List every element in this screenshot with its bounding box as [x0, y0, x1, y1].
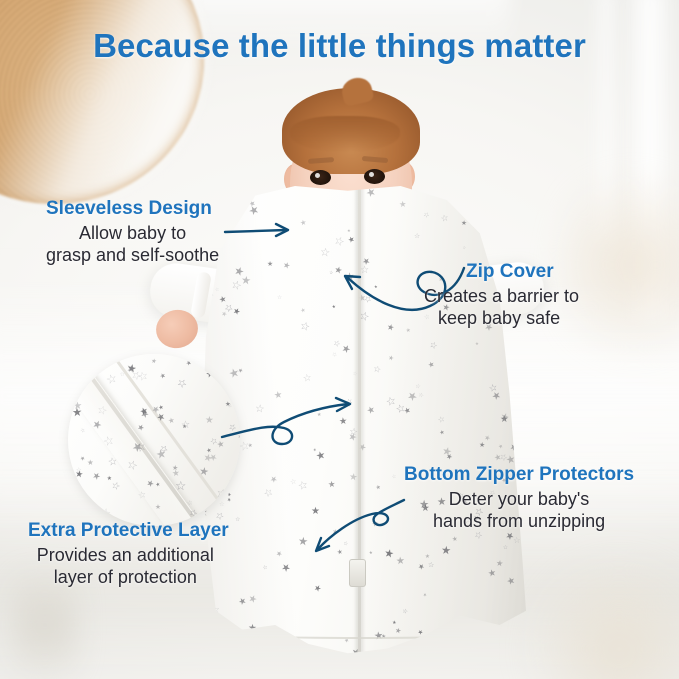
callout-body-sleeveless-design: Allow baby to grasp and self-soothe — [46, 223, 219, 267]
page-title: Because the little things matter — [0, 27, 679, 65]
sleep-sack: ★☆☆★★★★★★★★★★★★☆★★★☆☆★★☆★★★★★☆★☆★☆★★☆★★★… — [196, 186, 526, 658]
inset-star-print: ★☆★★★★☆☆★☆★☆☆★☆★☆☆★★★★☆☆★★★★★★☆★☆★★★☆★★★… — [68, 354, 240, 526]
baby-eye-left — [310, 170, 331, 185]
star-print: ★☆☆★★★★★★★★★★★★☆★★★☆☆★★☆★★★★★☆★☆★☆★★☆★★★… — [196, 186, 526, 658]
callout-body-line1: Provides an additional — [37, 545, 214, 565]
callout-extra-protective-layer: Extra Protective Layer Provides an addit… — [22, 520, 229, 589]
callout-title-sleeveless-design: Sleeveless Design — [46, 198, 219, 220]
callout-title-extra-protective-layer: Extra Protective Layer — [28, 520, 229, 542]
callout-body-bottom-zipper-protectors: Deter your baby's hands from unzipping — [404, 489, 634, 533]
callout-body-extra-protective-layer: Provides an additional layer of protecti… — [22, 545, 229, 589]
callout-body-line2: keep baby safe — [438, 308, 579, 330]
callout-body-line1: Creates a barrier to — [424, 286, 579, 306]
callout-body-line1: Deter your baby's — [449, 489, 590, 509]
callout-body-line2: hands from unzipping — [433, 511, 605, 531]
infographic-canvas: ★☆☆★★★★★★★★★★★★☆★★★☆☆★★☆★★★★★☆★☆★☆★★☆★★★… — [0, 0, 679, 679]
callout-zip-cover: Zip Cover Creates a barrier to keep baby… — [424, 261, 579, 330]
baby-hair-fringe — [290, 116, 400, 152]
callout-title-zip-cover: Zip Cover — [466, 261, 579, 283]
callout-bottom-zipper-protectors: Bottom Zipper Protectors Deter your baby… — [404, 464, 634, 533]
center-zipper — [358, 186, 361, 658]
callout-body-line1: Allow baby to — [79, 223, 186, 243]
callout-body-zip-cover: Creates a barrier to keep baby safe — [424, 286, 579, 330]
callout-body-line2: grasp and self-soothe — [46, 245, 219, 265]
baby-eye-right — [364, 169, 385, 184]
callout-sleeveless-design: Sleeveless Design Allow baby to grasp an… — [46, 198, 219, 267]
callout-title-bottom-zipper-protectors: Bottom Zipper Protectors — [404, 464, 634, 486]
zipper-closeup-inset: ★☆★★★★☆☆★☆★☆☆★☆★☆☆★★★★☆☆★★★★★★☆★☆★★★☆★★★… — [68, 354, 240, 526]
callout-body-line2: layer of protection — [54, 567, 197, 587]
zipper-protector-tab — [349, 559, 366, 587]
